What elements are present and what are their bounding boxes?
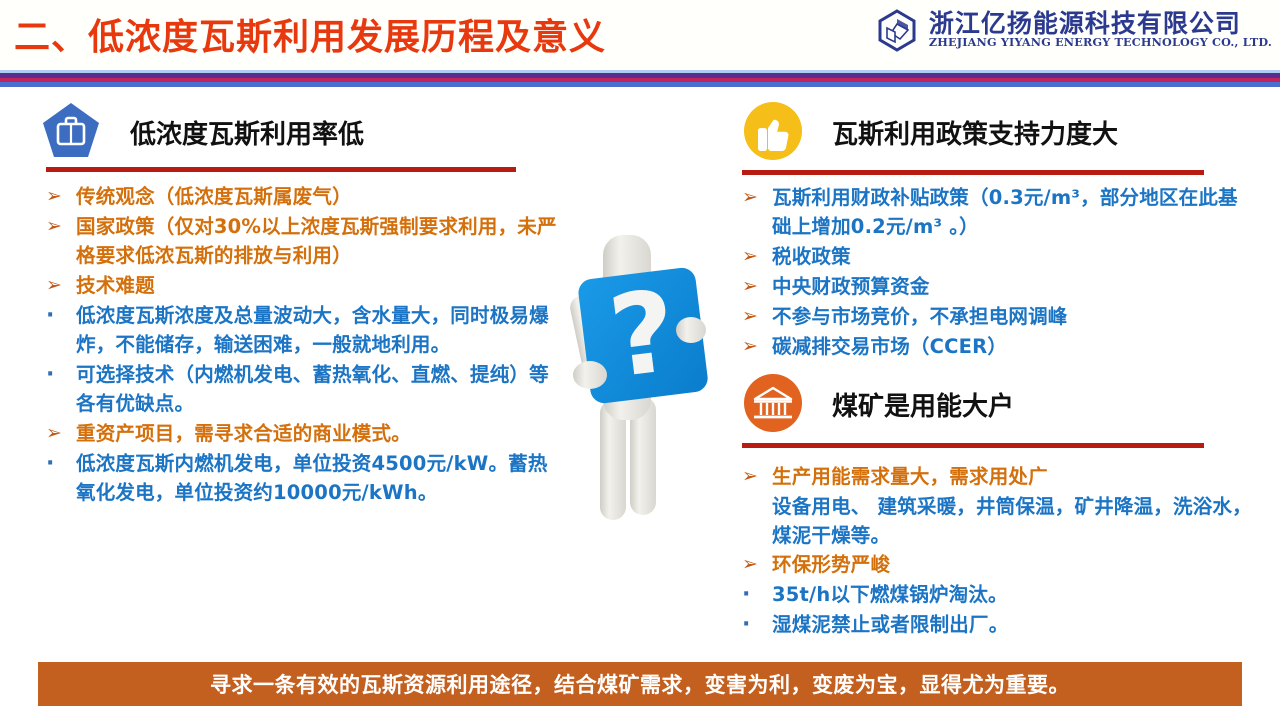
arrow-bullet-icon: ➢	[46, 212, 76, 241]
section-mine: 煤矿是用能大户	[742, 372, 1242, 434]
list-item: ➢ 技术难题	[46, 271, 558, 300]
arrow-bullet-icon: ➢	[742, 272, 772, 301]
list-item: · 低浓度瓦斯内燃机发电，单位投资4500元/kW。蓄热氧化发电，单位投资约10…	[46, 449, 558, 507]
section-policy-title: 瓦斯利用政策支持力度大	[832, 114, 1118, 151]
dot-bullet-icon: ·	[46, 449, 76, 478]
list-item: ➢ 环保形势严峻	[742, 550, 1252, 579]
list-item: · 低浓度瓦斯浓度及总量波动大，含水量大，同时极易爆炸，不能储存，输送困难，一般…	[46, 301, 558, 359]
list-item: ➢ 税收政策	[742, 242, 1242, 271]
arrow-bullet-icon: ➢	[742, 550, 772, 579]
arrow-bullet-icon: ➢	[742, 242, 772, 271]
list-item: 设备用电、 建筑采暖，井筒保温，矿井降温，洗浴水，煤泥干燥等。	[742, 492, 1252, 550]
divider-stripe-4	[0, 82, 1280, 87]
section-policy-header: 瓦斯利用政策支持力度大	[742, 100, 1242, 162]
company-logo: 浙江亿扬能源科技有限公司 ZHEJIANG YIYANG ENERGY TECH…	[875, 8, 1272, 52]
briefcase-pentagon-icon	[40, 100, 102, 162]
slide-header: 二、低浓度瓦斯利用发展历程及意义 浙江亿扬能源科技有限公司 ZHEJIANG Y…	[0, 0, 1280, 78]
section-mine-title: 煤矿是用能大户	[832, 386, 1014, 423]
section-utilization-title: 低浓度瓦斯利用率低	[130, 114, 364, 151]
list-item: ➢ 瓦斯利用财政补贴政策（0.3元/m³，部分地区在此基础上增加0.2元/m³ …	[742, 183, 1242, 241]
section-utilization-header: 低浓度瓦斯利用率低	[40, 100, 560, 162]
logo-company-name-cn: 浙江亿扬能源科技有限公司	[929, 11, 1272, 37]
list-item: ➢ 碳减排交易市场（CCER）	[742, 332, 1242, 361]
dot-bullet-icon: ·	[742, 610, 772, 639]
page-title: 二、低浓度瓦斯利用发展历程及意义	[14, 8, 606, 60]
arrow-bullet-icon: ➢	[46, 271, 76, 300]
person-holding-question-sign: ?	[548, 225, 738, 585]
section-mine-header: 煤矿是用能大户	[742, 372, 1242, 434]
footer-banner-text: 寻求一条有效的瓦斯资源利用途径，结合煤矿需求，变害为利，变废为宝，显得尤为重要。	[210, 669, 1070, 699]
list-item: ➢ 传统观念（低浓度瓦斯属废气）	[46, 182, 558, 211]
thumbs-up-circle-icon	[742, 100, 804, 162]
arrow-bullet-icon: ➢	[742, 183, 772, 212]
list-item: ➢ 中央财政预算资金	[742, 272, 1242, 301]
arrow-bullet-icon: ➢	[46, 182, 76, 211]
section-utilization-rule	[46, 167, 516, 172]
section-mine-rule	[742, 443, 1204, 448]
list-item: · 湿煤泥禁止或者限制出厂。	[742, 610, 1252, 639]
list-item: ➢ 不参与市场竞价，不承担电网调峰	[742, 302, 1242, 331]
bank-building-circle-icon	[742, 372, 804, 434]
list-item: ➢ 重资产项目，需寻求合适的商业模式。	[46, 419, 558, 448]
list-item: · 可选择技术（内燃机发电、蓄热氧化、直燃、提纯）等各有优缺点。	[46, 360, 558, 418]
arrow-bullet-icon: ➢	[742, 462, 772, 491]
dot-bullet-icon: ·	[46, 301, 76, 330]
list-item: · 35t/h以下燃煤锅炉淘汰。	[742, 580, 1252, 609]
list-item: ➢ 生产用能需求量大，需求用处广	[742, 462, 1252, 491]
logo-company-name-en: ZHEJIANG YIYANG ENERGY TECHNOLOGY CO., L…	[929, 37, 1272, 49]
arrow-bullet-icon: ➢	[742, 302, 772, 331]
header-divider	[0, 70, 1280, 88]
dot-bullet-icon: ·	[742, 580, 772, 609]
hexagon-cube-logo-icon	[875, 8, 919, 52]
arrow-bullet-icon: ➢	[46, 419, 76, 448]
section-utilization-bullets: ➢ 传统观念（低浓度瓦斯属废气） ➢ 国家政策（仅对30%以上浓度瓦斯强制要求利…	[46, 182, 558, 508]
list-item: ➢ 国家政策（仅对30%以上浓度瓦斯强制要求利用，未严格要求低浓瓦斯的排放与利用…	[46, 212, 558, 270]
dot-bullet-icon: ·	[46, 360, 76, 389]
section-policy-bullets: ➢ 瓦斯利用财政补贴政策（0.3元/m³，部分地区在此基础上增加0.2元/m³ …	[742, 183, 1242, 362]
section-policy-rule	[742, 170, 1204, 175]
section-utilization: 低浓度瓦斯利用率低	[40, 100, 560, 162]
arrow-bullet-icon: ➢	[742, 332, 772, 361]
section-policy: 瓦斯利用政策支持力度大	[742, 100, 1242, 162]
section-mine-bullets: ➢ 生产用能需求量大，需求用处广 设备用电、 建筑采暖，井筒保温，矿井降温，洗浴…	[742, 462, 1252, 640]
footer-banner: 寻求一条有效的瓦斯资源利用途径，结合煤矿需求，变害为利，变废为宝，显得尤为重要。	[38, 662, 1242, 706]
